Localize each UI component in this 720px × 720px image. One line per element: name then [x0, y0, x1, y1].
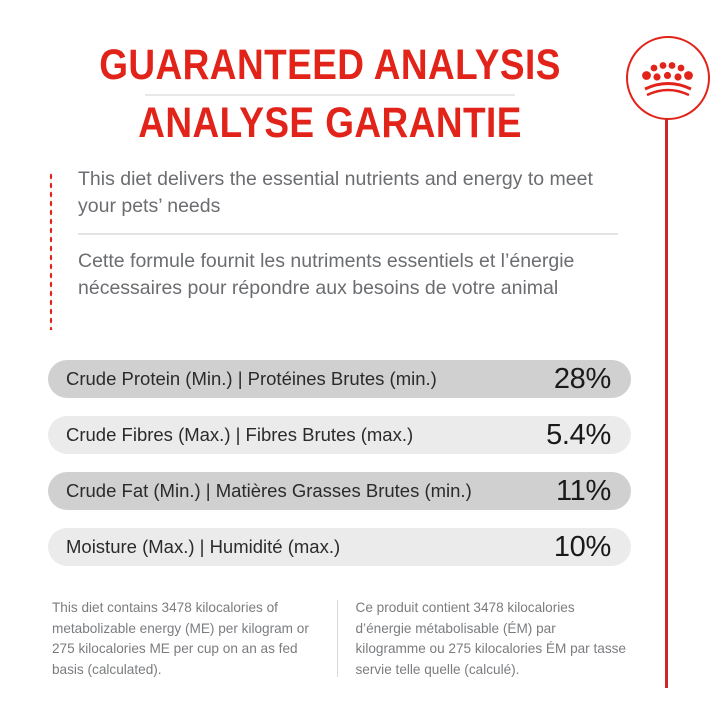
nutrient-value: 28% — [554, 363, 611, 396]
brand-logo — [626, 36, 710, 120]
vertical-red-rule — [665, 118, 668, 688]
guaranteed-analysis-label: GUARANTEED ANALYSIS ANALYSE GARANTIE Thi… — [0, 0, 720, 720]
intro-paragraph-french: Cette formule fournit les nutriments ess… — [78, 248, 624, 301]
intro-section: This diet delivers the essential nutrien… — [44, 166, 624, 302]
nutrient-label: Crude Fat (Min.) | Matières Grasses Brut… — [66, 480, 472, 502]
page-title: GUARANTEED ANALYSIS ANALYSE GARANTIE — [60, 44, 600, 145]
nutrient-row: Crude Fat (Min.) | Matières Grasses Brut… — [48, 472, 631, 510]
royal-canin-crown-icon — [642, 56, 694, 100]
title-french: ANALYSE GARANTIE — [98, 102, 562, 145]
footnotes-section: This diet contains 3478 kilocalories of … — [52, 598, 628, 681]
nutrient-value: 5.4% — [546, 419, 611, 452]
intro-body: This diet delivers the essential nutrien… — [78, 166, 624, 302]
nutrient-row: Moisture (Max.) | Humidité (max.) 10% — [48, 528, 631, 566]
dotted-accent-line — [49, 172, 53, 330]
title-english: GUARANTEED ANALYSIS — [98, 44, 562, 87]
intro-divider — [78, 233, 618, 235]
intro-paragraph-english: This diet delivers the essential nutrien… — [78, 166, 624, 219]
nutrient-value: 11% — [556, 475, 611, 508]
nutrient-label: Moisture (Max.) | Humidité (max.) — [66, 536, 340, 558]
footnote-divider — [337, 600, 338, 677]
nutrient-value: 10% — [554, 531, 611, 564]
nutrient-table: Crude Protein (Min.) | Protéines Brutes … — [48, 360, 631, 584]
nutrient-label: Crude Protein (Min.) | Protéines Brutes … — [66, 368, 437, 390]
nutrient-label: Crude Fibres (Max.) | Fibres Brutes (max… — [66, 424, 413, 446]
footnote-english: This diet contains 3478 kilocalories of … — [52, 598, 325, 681]
footnote-french: Ce produit contient 3478 kilocalories d’… — [356, 598, 629, 681]
title-divider — [145, 94, 515, 96]
nutrient-row: Crude Protein (Min.) | Protéines Brutes … — [48, 360, 631, 398]
nutrient-row: Crude Fibres (Max.) | Fibres Brutes (max… — [48, 416, 631, 454]
